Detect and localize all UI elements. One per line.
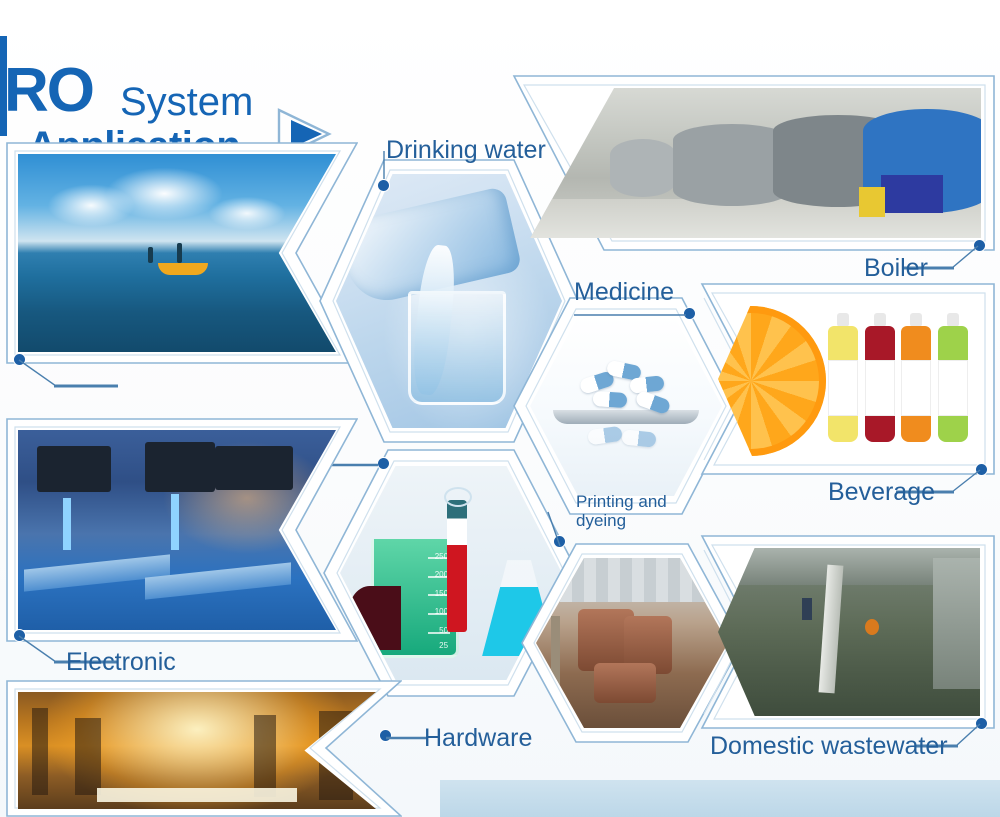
machine-head xyxy=(145,442,215,492)
panel-beverage[interactable]: Beverage xyxy=(700,282,996,476)
connector-line-medicine xyxy=(572,310,690,320)
test-tube-red xyxy=(447,500,467,632)
person-shape xyxy=(148,247,153,263)
label-boiler: Boiler xyxy=(864,254,928,282)
water-glass-shape xyxy=(408,291,506,405)
panel-electronic[interactable]: Electronic xyxy=(6,418,358,642)
label-domestic-wastewater: Domestic wastewater xyxy=(710,732,948,760)
label-printing-line1: Printing and xyxy=(576,492,667,511)
bottle-base xyxy=(828,416,858,442)
burner-shape xyxy=(881,175,943,213)
label-beverage: Beverage xyxy=(828,478,935,506)
bottle-liquid xyxy=(938,326,968,360)
fabric-roll xyxy=(594,663,656,703)
bottle-liquid xyxy=(828,326,858,360)
bottle-label xyxy=(938,360,968,416)
structure-shape xyxy=(254,715,276,797)
beverage-photo xyxy=(718,296,980,462)
label-hardware: Hardware xyxy=(424,724,532,752)
capsule-shape xyxy=(593,390,628,407)
label-electronic: Electronic xyxy=(66,648,176,676)
person-shape xyxy=(177,243,182,263)
bottom-decorative-strip xyxy=(440,780,1000,817)
machine-head xyxy=(37,446,111,492)
spoon-shape xyxy=(553,410,699,424)
page-title: RO System Application xyxy=(0,34,430,144)
wastewater-photo xyxy=(718,548,980,716)
nozzle xyxy=(63,498,71,550)
tube-stopper xyxy=(444,487,472,507)
bottle-cap xyxy=(874,313,886,327)
beaker-tick-25: 25 xyxy=(439,641,448,650)
label-printing-line2: dyeing xyxy=(576,511,667,530)
label-printing-dyeing: Printing and dyeing xyxy=(576,492,667,530)
title-system: System xyxy=(120,82,253,122)
bottle-base xyxy=(938,416,968,442)
bottle-shape xyxy=(938,326,968,442)
bottle-base xyxy=(901,416,931,442)
machine-head xyxy=(215,446,293,490)
bottle-liquid xyxy=(865,326,895,360)
bottle-liquid xyxy=(901,326,931,360)
structure-shape xyxy=(32,708,48,795)
connector-line-printing xyxy=(542,504,576,550)
capsule-reflection xyxy=(621,429,656,447)
agitator-shape xyxy=(865,619,879,635)
label-medicine: Medicine xyxy=(574,278,674,306)
nozzle xyxy=(171,494,179,550)
bottle-shape xyxy=(901,326,931,442)
capsule-reflection xyxy=(587,425,623,445)
bottle-label xyxy=(901,360,931,416)
bottle-cap xyxy=(910,313,922,327)
connector-line-sea-water xyxy=(14,358,124,396)
agitator-shape xyxy=(802,598,812,620)
bottle-cap xyxy=(837,313,849,327)
boat-shape xyxy=(158,263,208,275)
bottle-label xyxy=(828,360,858,416)
panel-domestic-wastewater[interactable]: Domestic wastewater xyxy=(700,534,996,730)
panel-boiler[interactable]: Boiler xyxy=(512,74,996,252)
bottle-cap xyxy=(947,313,959,327)
bottle-shape xyxy=(828,326,858,442)
bottle-base xyxy=(865,416,895,442)
bottle-shape xyxy=(865,326,895,442)
structure-shape xyxy=(75,718,101,795)
boiler-tank-shape xyxy=(610,139,676,197)
panel-hardware[interactable]: Hardware xyxy=(6,680,402,817)
burner-shape xyxy=(859,187,885,217)
panel-sea-water[interactable]: Sea water xyxy=(6,142,358,364)
bottle-label xyxy=(865,360,895,416)
capsule-shape xyxy=(629,375,664,393)
brand-ro: RO xyxy=(4,60,93,122)
molten-strip xyxy=(97,788,297,802)
infographic-canvas: RO System Application Sea water xyxy=(0,0,1000,817)
tank-wall xyxy=(933,558,980,689)
